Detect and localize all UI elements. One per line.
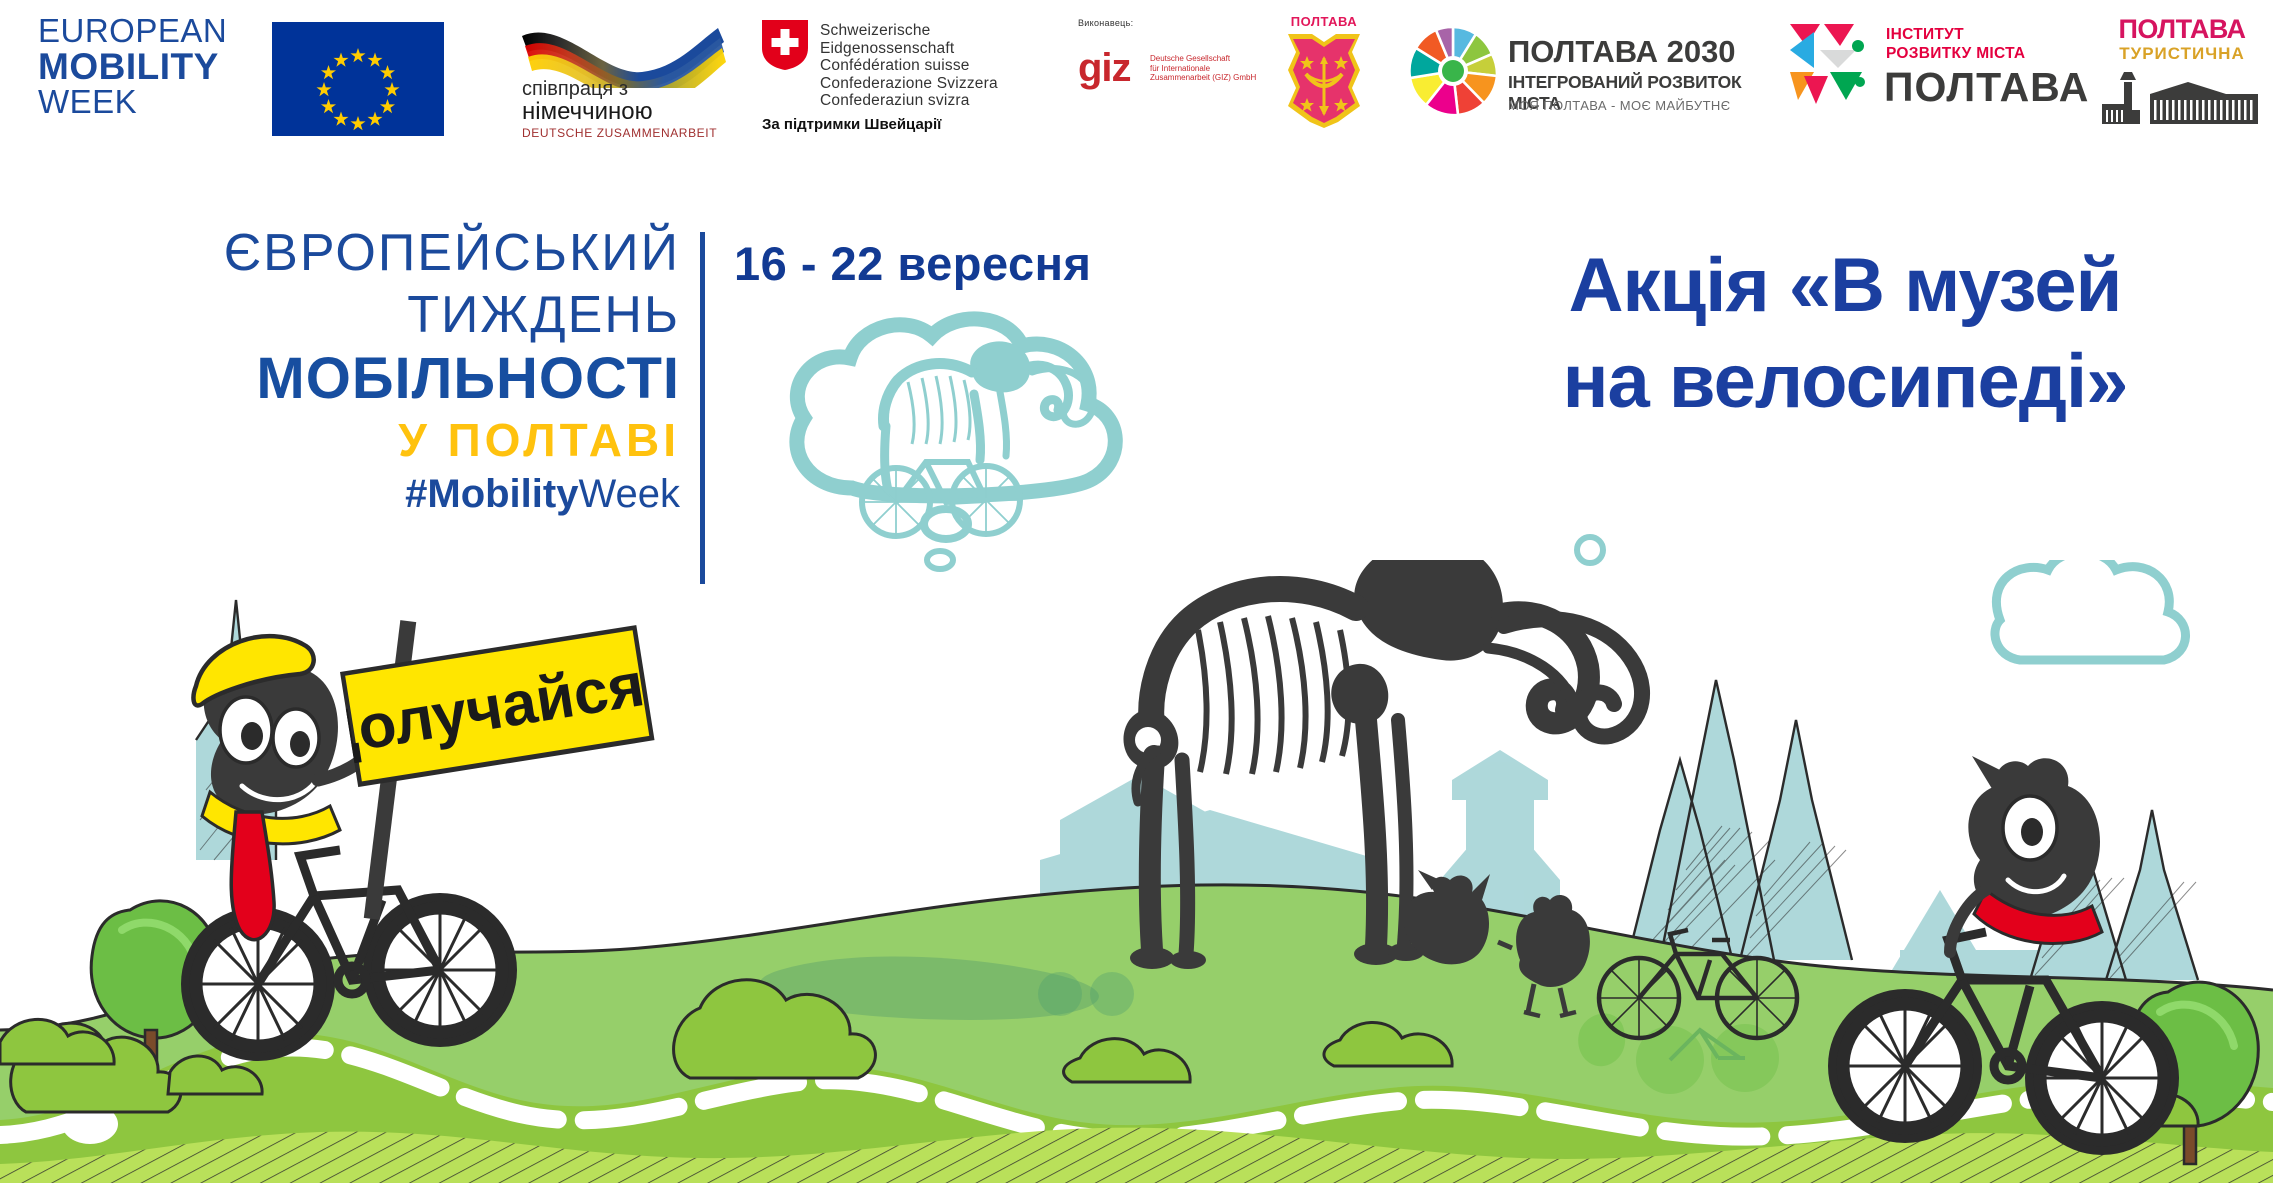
- giz-desc-1: Deutsche Gesellschaft: [1150, 54, 1256, 64]
- german-cooperation-logo: співпраця з німеччиною DEUTSCHE ZUSAMMEN…: [512, 16, 734, 136]
- european-mobility-week-logo: EUROPEAN MOBILITY WEEK: [38, 14, 258, 119]
- german-coop-line-2: німеччиною: [522, 98, 653, 126]
- title-line-1: ЄВРОПЕЙСЬКИЙ: [60, 222, 680, 284]
- poltava-2030-globe-icon: [1408, 26, 1498, 116]
- swiss-line-de: Schweizerische Eidgenossenschaft: [820, 22, 1052, 57]
- cloud-right: [1995, 560, 2186, 660]
- tourist-line-1: ПОЛТАВА: [2118, 14, 2245, 45]
- emw-line-3: WEEK: [38, 85, 258, 119]
- swiss-line-fr: Confédération suisse: [820, 57, 1052, 75]
- giz-wordmark: giz: [1078, 46, 1131, 91]
- swiss-confederation-logo: Schweizerische Eidgenossenschaft Confédé…: [762, 20, 1052, 140]
- swiss-language-lines: Schweizerische Eidgenossenschaft Confédé…: [820, 22, 1052, 110]
- hashtag-line: #MobilityWeek: [60, 468, 680, 520]
- illustration-scene: [0, 560, 2273, 1183]
- poltava-tourist-logo: ПОЛТАВА ТУРИСТИЧНА: [2102, 14, 2262, 126]
- tourist-line-2: ТУРИСТИЧНА: [2119, 44, 2244, 64]
- poltava-2030-tagline: МОЯ ПОЛТАВА - МОЄ МАЙБУТНЄ: [1508, 98, 1730, 113]
- institute-line-1: ІНСТИТУТ: [1886, 26, 1964, 44]
- tourist-building-icon: [2102, 70, 2262, 128]
- institute-city-development-logo: ІНСТИТУТ РОЗВИТКУ МІСТА ПОЛТАВА: [1790, 20, 2090, 120]
- poltava-2030-logo: ПОЛТАВА 2030 ІНТЕГРОВАНИЙ РОЗВИТОК МІСТА…: [1408, 22, 1768, 128]
- thought-bubble: [760, 310, 1180, 680]
- institute-line-2: РОЗВИТКУ МІСТА: [1886, 45, 2025, 63]
- giz-desc-2: für Internationale: [1150, 64, 1256, 74]
- swiss-line-it: Confederazione Svizzera: [820, 75, 1052, 93]
- emw-line-1: EUROPEAN: [38, 14, 258, 48]
- action-headline-block: Акція «В музей на велосипеді»: [1440, 238, 2250, 430]
- coat-shield-icon: [1278, 30, 1370, 144]
- emw-line-2: MOBILITY: [38, 48, 258, 86]
- small-bubble: [1560, 520, 1620, 580]
- event-dates: 16 - 22 вересня: [734, 236, 1091, 291]
- swiss-shield-icon: [762, 20, 808, 70]
- poltava-2030-title: ПОЛТАВА 2030: [1508, 34, 1736, 70]
- title-line-3: МОБІЛЬНОСТІ: [60, 346, 680, 412]
- hashtag-light: Week: [578, 472, 680, 516]
- giz-executor-label: Виконавець:: [1078, 18, 1133, 28]
- eu-stars-icon: [272, 22, 444, 136]
- german-coop-line-3: DEUTSCHE ZUSAMMENARBEIT: [522, 126, 717, 140]
- mobility-week-banner: EUROPEAN MOBILITY WEEK: [0, 0, 2273, 1183]
- vertical-divider: [700, 232, 705, 584]
- campaign-title-block: ЄВРОПЕЙСЬКИЙ ТИЖДЕНЬ МОБІЛЬНОСТІ У ПОЛТА…: [60, 222, 680, 520]
- swiss-line-rm: Confederaziun svizra: [820, 92, 1052, 110]
- action-headline-line-2: на велосипеді»: [1440, 334, 2250, 430]
- title-line-2: ТИЖДЕНЬ: [60, 284, 680, 346]
- institute-geometric-icon: [1790, 20, 1876, 108]
- coat-of-arms-word: ПОЛТАВА: [1291, 14, 1357, 29]
- institute-line-3: ПОЛТАВА: [1884, 64, 2089, 111]
- title-line-4: У ПОЛТАВІ: [60, 412, 680, 468]
- action-headline-line-1: Акція «В музей: [1440, 238, 2250, 334]
- swiss-support-label: За підтримки Швейцарії: [762, 116, 941, 133]
- giz-description: Deutsche Gesellschaft für Internationale…: [1150, 54, 1256, 83]
- poltava-coat-of-arms: ПОЛТАВА: [1278, 14, 1370, 128]
- hashtag-bold: #Mobility: [405, 472, 578, 516]
- giz-logo: Виконавець: giz Deutsche Gesellschaft fü…: [1078, 18, 1268, 128]
- sponsor-logo-bar: EUROPEAN MOBILITY WEEK: [0, 0, 2273, 140]
- giz-desc-3: Zusammenarbeit (GIZ) GmbH: [1150, 73, 1256, 83]
- eu-flag-icon: [272, 22, 444, 136]
